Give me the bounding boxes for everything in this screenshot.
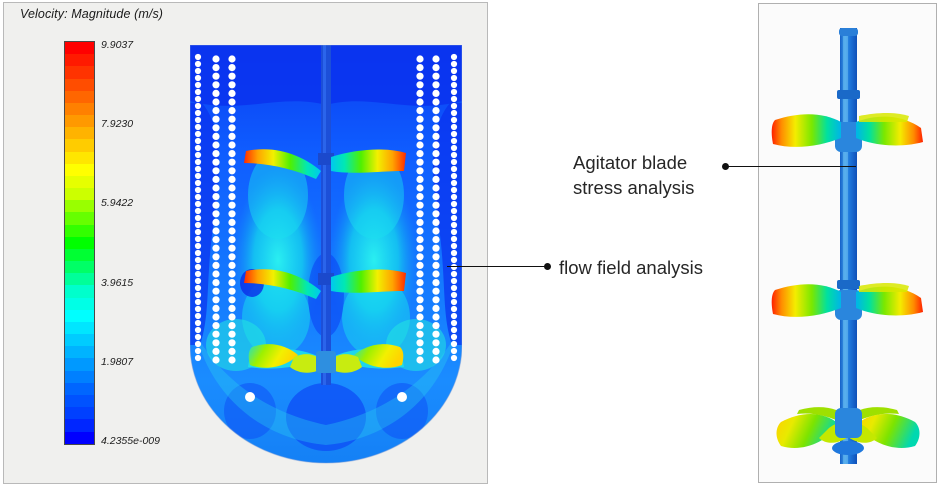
legend-band [65, 103, 94, 115]
legend-tick-label: 4.2355e-009 [101, 435, 160, 447]
legend-band [65, 383, 94, 395]
legend-band [65, 212, 94, 224]
legend-band [65, 273, 94, 285]
legend-color-bar [64, 41, 95, 445]
cfd-fea-figure: Velocity: Magnitude (m/s) 9.90377.92305.… [0, 0, 940, 488]
legend-band [65, 164, 94, 176]
cfd-flow-field-panel: Velocity: Magnitude (m/s) 9.90377.92305.… [3, 2, 488, 484]
legend-tick-label: 3.9615 [101, 277, 133, 289]
legend-band [65, 407, 94, 419]
annotation-agitator-blade-stress: Agitator blade stress analysis [573, 150, 694, 200]
legend-band [65, 310, 94, 322]
legend-band [65, 298, 94, 310]
legend-band [65, 139, 94, 151]
legend-band [65, 346, 94, 358]
cfd-contour-plot [190, 45, 462, 465]
legend-band [65, 54, 94, 66]
legend-band [65, 225, 94, 237]
legend-band [65, 419, 94, 431]
legend-band [65, 127, 94, 139]
legend-band [65, 371, 94, 383]
legend-band [65, 322, 94, 334]
legend-band [65, 42, 94, 54]
legend-band [65, 432, 94, 444]
legend-tick-label: 9.9037 [101, 39, 133, 51]
cfd-panel-title: Velocity: Magnitude (m/s) [20, 7, 163, 21]
legend-band [65, 152, 94, 164]
annotation-leader-flow-field [447, 266, 545, 267]
legend-tick-label: 7.9230 [101, 118, 133, 130]
legend-band [65, 249, 94, 261]
legend-band [65, 176, 94, 188]
legend-band [65, 358, 94, 370]
legend-band [65, 188, 94, 200]
legend-band [65, 334, 94, 346]
legend-band [65, 285, 94, 297]
annotation-leader-agitator-blade [728, 166, 856, 167]
agitator-stress-panel [758, 3, 937, 483]
legend-tick-label: 5.9422 [101, 197, 133, 209]
legend-band [65, 395, 94, 407]
legend-band [65, 66, 94, 78]
legend-band [65, 91, 94, 103]
legend-band [65, 237, 94, 249]
agitator-stress-model [759, 4, 936, 482]
legend-tick-label: 1.9807 [101, 356, 133, 368]
legend-band [65, 261, 94, 273]
legend-band [65, 79, 94, 91]
legend-band [65, 115, 94, 127]
legend-band [65, 200, 94, 212]
annotation-flow-field: flow field analysis [559, 255, 703, 280]
velocity-color-legend: 9.90377.92305.94223.96151.98074.2355e-00… [64, 41, 184, 445]
annotation-dot-flow-field [544, 263, 551, 270]
